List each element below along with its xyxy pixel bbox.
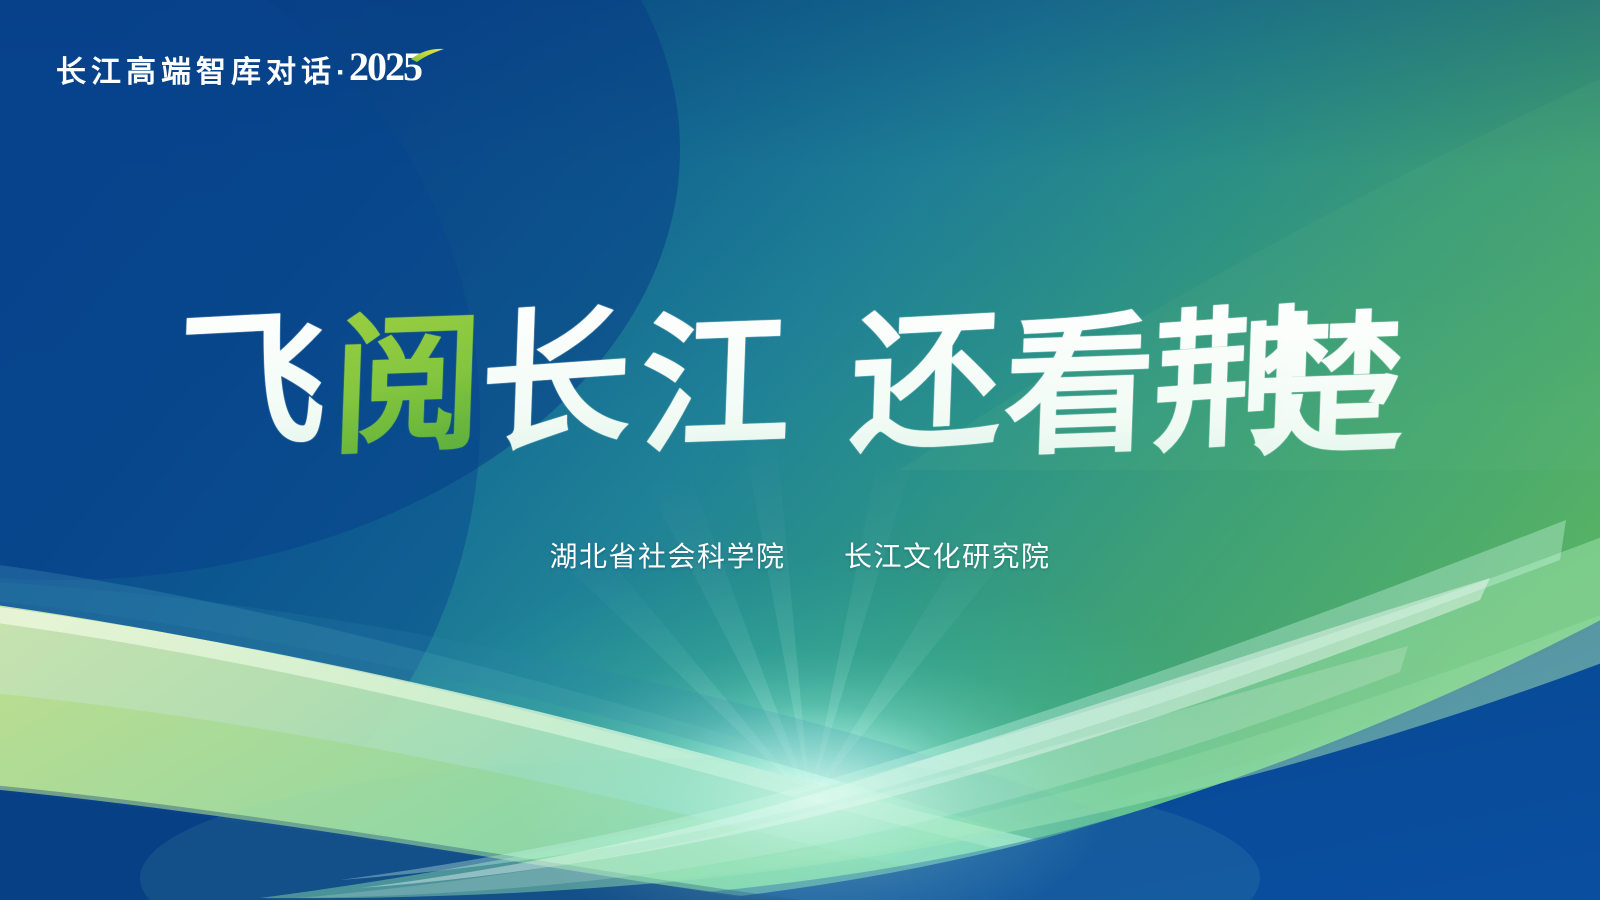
main-title-calligraphy: 飞 阅 长 江 还 看 荆 楚 bbox=[180, 282, 1420, 482]
title-char-7: 楚 bbox=[1251, 296, 1407, 477]
title-char-5: 看 bbox=[1001, 296, 1157, 477]
main-title: 飞 阅 长 江 还 看 荆 楚 bbox=[0, 282, 1600, 487]
title-char-2: 长 bbox=[478, 288, 634, 475]
title-char-0: 飞 bbox=[180, 290, 330, 474]
poster-canvas: 长江高端智库对话 · 2025 bbox=[0, 0, 1600, 900]
subtitle-org-1: 湖北省社会科学院 bbox=[549, 541, 785, 572]
year-2025-mark: 2025 bbox=[349, 46, 447, 88]
title-char-1: 阅 bbox=[330, 295, 486, 476]
title-char-4: 还 bbox=[848, 290, 1005, 474]
title-char-3: 江 bbox=[638, 294, 794, 475]
event-logo: 长江高端智库对话 · 2025 bbox=[56, 46, 447, 88]
event-logo-year: 2025 bbox=[349, 46, 447, 88]
subtitle-line: 湖北省社会科学院 长江文化研究院 bbox=[0, 540, 1600, 574]
event-logo-separator: · bbox=[336, 58, 346, 88]
svg-text:2025: 2025 bbox=[349, 46, 422, 88]
subtitle-org-2: 长江文化研究院 bbox=[844, 541, 1051, 572]
event-logo-text: 长江高端智库对话 bbox=[56, 58, 336, 88]
